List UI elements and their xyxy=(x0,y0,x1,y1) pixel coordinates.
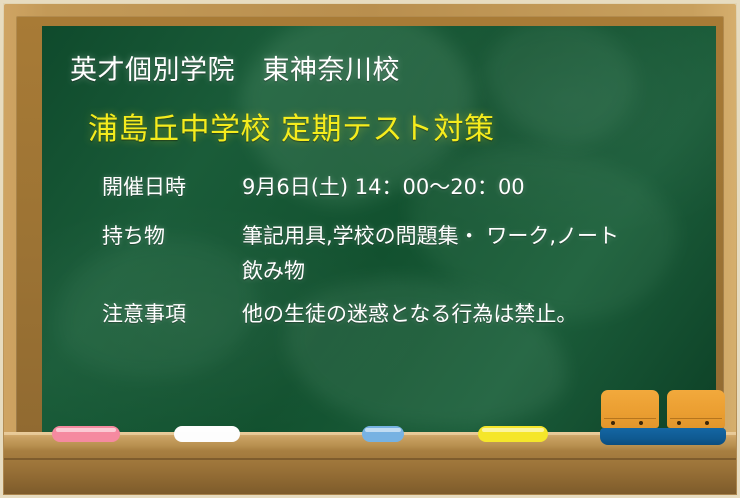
eraser-stud xyxy=(639,421,643,425)
board-subtitle: 浦島丘中学校 定期テスト対策 xyxy=(42,104,716,148)
chalk-yellow[interactable] xyxy=(478,426,548,442)
detail-row-items: 持ち物 筆記用具,学校の問題集・ ワーク,ノート xyxy=(42,225,716,247)
detail-value-items: 筆記用具,学校の問題集・ ワーク,ノート xyxy=(242,225,716,247)
eraser-pair[interactable] xyxy=(600,390,726,445)
detail-row-notes: 注意事項 他の生徒の迷惑となる行為は禁止。 xyxy=(42,303,716,325)
chalkboard-slate: 英才個別学院 東神奈川校 浦島丘中学校 定期テスト対策 開催日時 9月6日(土)… xyxy=(42,26,716,436)
chalk-blue[interactable] xyxy=(362,426,404,442)
detail-value-items-continued: 飲み物 xyxy=(42,260,716,282)
detail-label-datetime: 開催日時 xyxy=(102,176,242,198)
eraser-left[interactable] xyxy=(601,390,659,428)
chalk-pink[interactable] xyxy=(52,426,120,442)
detail-label-notes: 注意事項 xyxy=(102,303,242,325)
eraser-seam xyxy=(604,418,656,419)
eraser-stud xyxy=(705,421,709,425)
board-content: 英才個別学院 東神奈川校 浦島丘中学校 定期テスト対策 開催日時 9月6日(土)… xyxy=(42,26,716,325)
detail-label-items: 持ち物 xyxy=(102,225,242,247)
chalkboard-frame: 英才個別学院 東神奈川校 浦島丘中学校 定期テスト対策 開催日時 9月6日(土)… xyxy=(0,0,740,498)
eraser-seam xyxy=(670,418,722,419)
chalk-white[interactable] xyxy=(174,426,240,442)
ledge-groove xyxy=(4,458,736,460)
board-title: 英才個別学院 東神奈川校 xyxy=(42,48,716,87)
eraser-base xyxy=(600,428,726,445)
detail-row-datetime: 開催日時 9月6日(土) 14：00～20：00 xyxy=(42,176,716,198)
eraser-stud xyxy=(677,421,681,425)
eraser-right[interactable] xyxy=(667,390,725,428)
board-detail-rows: 開催日時 9月6日(土) 14：00～20：00 持ち物 筆記用具,学校の問題集… xyxy=(42,176,716,325)
eraser-stud xyxy=(611,421,615,425)
detail-value-notes: 他の生徒の迷惑となる行為は禁止。 xyxy=(242,303,716,325)
detail-value-datetime: 9月6日(土) 14：00～20：00 xyxy=(242,176,716,198)
